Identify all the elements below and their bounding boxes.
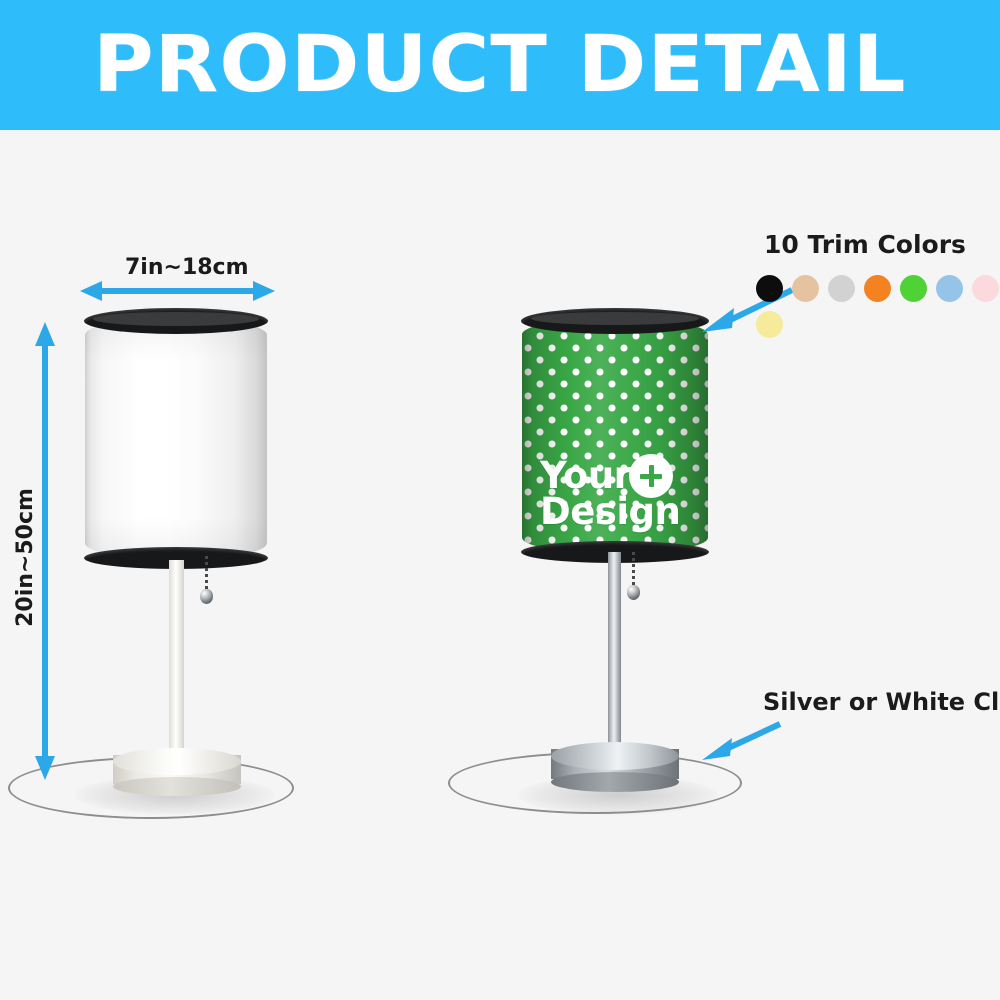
base-finish-label: Silver or White Classy: [763, 688, 1000, 716]
design-line-2: Design: [540, 494, 680, 530]
custom-lamp: Your Design: [430, 0, 810, 1000]
green-shade-surface: Your Design: [522, 318, 708, 554]
product-detail-page: PRODUCT DETAIL: [0, 0, 1000, 1000]
base-finish-pointer-arrow: [700, 718, 784, 762]
trim-color-swatches-row-2: [756, 311, 783, 338]
white-lamp-chain-ball[interactable]: [200, 589, 213, 604]
width-dimension-arrow: [80, 278, 275, 304]
custom-lamp-chain-ball[interactable]: [627, 585, 640, 600]
white-lamp-base: [113, 748, 241, 796]
custom-lamp-shade: Your Design: [522, 318, 708, 554]
custom-lamp-pole: [608, 552, 621, 760]
custom-lamp-pull-chain[interactable]: [632, 552, 635, 588]
white-shade-surface: [85, 318, 267, 560]
trim-swatch-silver[interactable]: [828, 275, 855, 302]
white-base-top: [113, 748, 241, 775]
trim-swatch-yellow[interactable]: [756, 311, 783, 338]
trim-swatch-tan[interactable]: [792, 275, 819, 302]
plus-icon: [629, 454, 673, 498]
trim-colors-label: 10 Trim Colors: [764, 230, 966, 259]
white-base-bottom: [113, 777, 241, 796]
white-lamp-shade: [85, 318, 267, 560]
trim-swatch-black[interactable]: [756, 275, 783, 302]
trim-color-swatches-row-1: [756, 275, 1000, 302]
white-lamp-pull-chain[interactable]: [205, 556, 208, 592]
silver-base-bottom: [551, 772, 679, 792]
white-shade-top-trim-inner: [93, 312, 259, 326]
trim-swatch-pink[interactable]: [972, 275, 999, 302]
trim-swatch-orange[interactable]: [864, 275, 891, 302]
width-label: 7in~18cm: [125, 255, 249, 280]
trim-swatch-green[interactable]: [900, 275, 927, 302]
height-dimension-arrow: [32, 322, 58, 780]
green-shade-top-trim-inner: [531, 312, 699, 325]
white-lamp-pole: [169, 560, 184, 770]
silver-base-top: [551, 742, 679, 770]
trim-swatch-blue[interactable]: [936, 275, 963, 302]
custom-lamp-base: [551, 742, 679, 792]
